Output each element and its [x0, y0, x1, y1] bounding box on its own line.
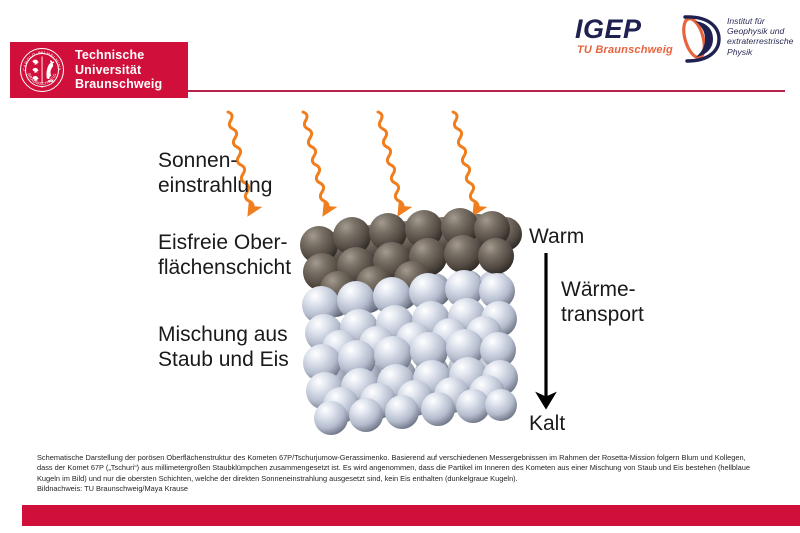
caption-line-2: dass der Komet 67P („Tschuri“) aus milli…: [37, 463, 767, 473]
tu-seal-icon: CAROLO-WILHELMINA BRAUNSCHWEIG: [19, 47, 65, 93]
caption-line-3: Kugeln im Bild) und nur die obersten Sch…: [37, 474, 767, 484]
label-dust-ice-mixture: Mischung aus Staub und Eis: [158, 322, 289, 372]
label-cold: Kalt: [529, 412, 565, 436]
sphere-group-dark-front: [300, 208, 514, 307]
sun-ray-4: [453, 112, 478, 209]
tu-logo-line3: Braunschweig: [75, 77, 162, 92]
footer-bar: [22, 505, 800, 526]
label-warm: Warm: [529, 225, 584, 249]
figure-caption: Schematische Darstellung der porösen Obe…: [37, 453, 767, 495]
sphere-group-light-front: [302, 270, 518, 435]
igep-institute-line4: Physik: [727, 47, 793, 57]
tu-logo-line2: Universität: [75, 63, 162, 78]
header-divider: [188, 90, 785, 92]
label-heat-transport: Wärme- transport: [561, 277, 644, 327]
sphere-group-dark-back: [317, 214, 522, 268]
caption-line-1: Schematische Darstellung der porösen Obe…: [37, 453, 767, 463]
igep-orbit-icon: [671, 11, 731, 67]
caption-credit: Bildnachweis: TU Braunschweig/Maya Kraus…: [37, 484, 767, 494]
slide-canvas: CAROLO-WILHELMINA BRAUNSCHWEIG: [0, 0, 800, 533]
igep-logo[interactable]: IGEP TU Braunschweig Institut für Geophy…: [575, 11, 790, 67]
igep-institute-line2: Geophysik und: [727, 26, 793, 36]
sun-ray-2: [303, 112, 328, 209]
igep-institute-text: Institut für Geophysik und extraterrestr…: [727, 16, 793, 57]
tu-logo-line1: Technische: [75, 48, 162, 63]
igep-subtitle: TU Braunschweig: [577, 44, 673, 56]
label-solar-irradiation: Sonnen- einstrahlung: [158, 148, 272, 198]
sphere-group-light-back: [315, 270, 510, 398]
igep-institute-line1: Institut für: [727, 16, 793, 26]
tu-logo-wordmark: Technische Universität Braunschweig: [75, 48, 162, 92]
igep-wordmark: IGEP: [575, 14, 642, 45]
label-ice-free-surface-layer: Eisfreie Ober- flächenschicht: [158, 230, 291, 280]
tu-braunschweig-logo[interactable]: CAROLO-WILHELMINA BRAUNSCHWEIG: [10, 42, 188, 98]
igep-institute-line3: extraterrestrische: [727, 36, 793, 46]
sun-ray-3: [378, 112, 403, 209]
